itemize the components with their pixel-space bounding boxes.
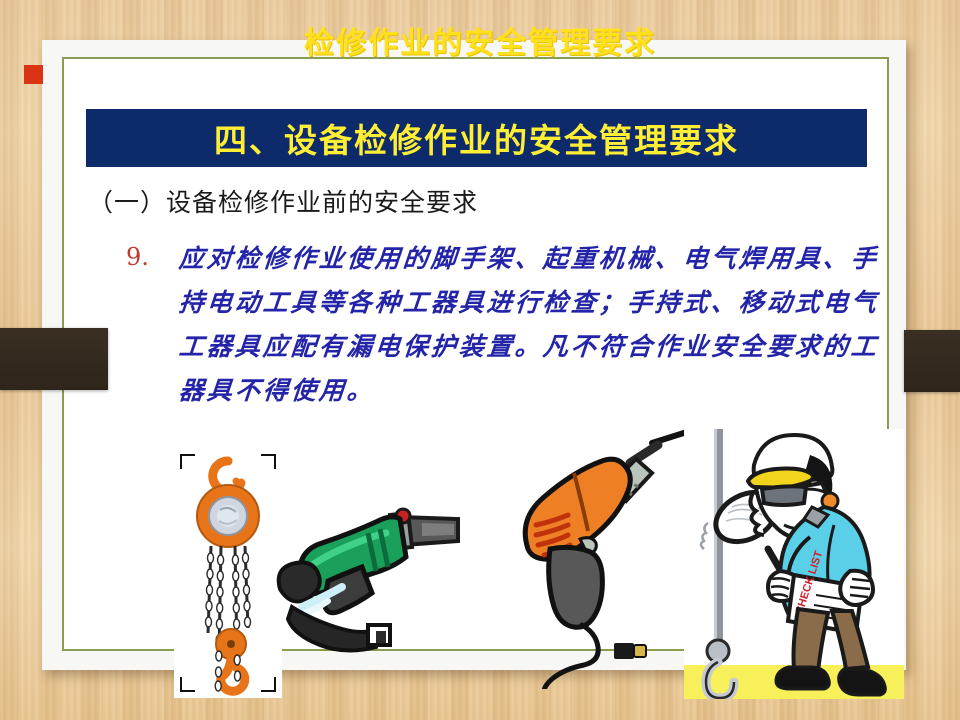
slide-title-bar: 四、设备检修作业的安全管理要求 xyxy=(86,109,867,167)
body-block: 9. 应对检修作业使用的脚手架、起重机械、电气焊用具、手 持电动工具等各种工器具… xyxy=(84,237,895,413)
bullet-square-icon xyxy=(24,65,43,84)
body-line: 工器具应配有漏电保护装置。凡不符合作业安全要求的工 xyxy=(177,325,897,369)
electric-drill-image xyxy=(502,429,692,689)
decorative-belt-left xyxy=(0,328,108,390)
slide-title-text: 四、设备检修作业的安全管理要求 xyxy=(214,114,739,162)
body-line: 持电动工具等各种工器具进行检查；手持式、移动式电气 xyxy=(177,281,897,325)
decorative-belt-right xyxy=(904,330,960,392)
inspector-icon: CHECK LIST xyxy=(684,429,904,699)
corner-mark-icon xyxy=(261,454,276,469)
corner-mark-icon xyxy=(180,454,195,469)
body-line: 应对检修作业使用的脚手架、起重机械、电气焊用具、手 xyxy=(177,237,897,281)
inspector-image: CHECK LIST xyxy=(684,429,904,699)
angle-grinder-icon xyxy=(272,489,462,659)
electric-drill-icon xyxy=(502,429,692,689)
slide-inner-border: 四、设备检修作业的安全管理要求 （一）设备检修作业前的安全要求 9. 应对检修作… xyxy=(62,57,889,651)
body-text: 应对检修作业使用的脚手架、起重机械、电气焊用具、手 持电动工具等各种工器具进行检… xyxy=(179,237,895,413)
body-item-number: 9. xyxy=(126,243,149,271)
subtitle-text: （一）设备检修作业前的安全要求 xyxy=(88,183,478,219)
angle-grinder-image xyxy=(272,489,462,659)
corner-mark-icon xyxy=(180,677,195,692)
slide-panel: 四、设备检修作业的安全管理要求 （一）设备检修作业前的安全要求 9. 应对检修作… xyxy=(42,40,906,670)
corner-mark-icon xyxy=(261,677,276,692)
chain-hoist-icon xyxy=(174,448,282,698)
chain-hoist-image xyxy=(174,448,282,698)
illustration-strip: CHECK LIST xyxy=(64,419,928,689)
subtitle-row: （一）设备检修作业前的安全要求 xyxy=(88,184,875,218)
watermark-title: 检修作业的安全管理要求 xyxy=(0,18,960,62)
body-line: 器具不得使用。 xyxy=(177,369,897,413)
